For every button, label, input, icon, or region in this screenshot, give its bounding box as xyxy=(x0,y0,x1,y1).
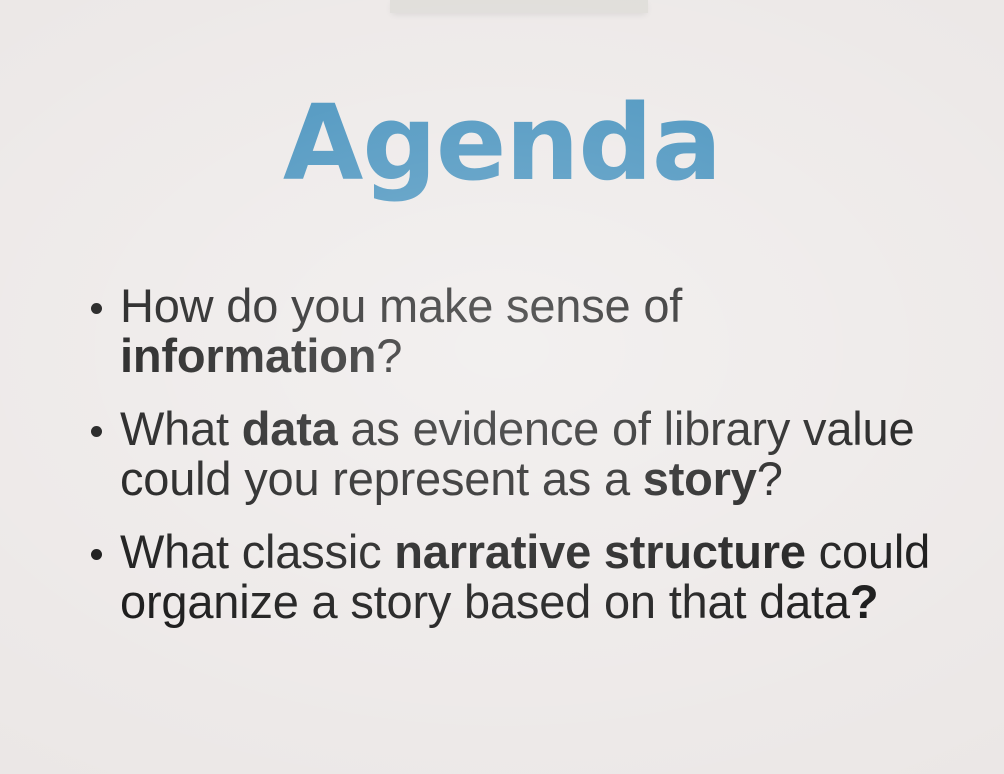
bullet-point-icon xyxy=(91,426,102,437)
run-text: What classic xyxy=(120,525,394,578)
run-text-bold: data xyxy=(242,402,338,455)
run-text-bold: information xyxy=(120,329,376,382)
bullet-point-icon xyxy=(91,303,102,314)
list-item: What data as evidence of library value c… xyxy=(84,404,944,504)
list-item: How do you make sense of information? xyxy=(84,281,944,381)
run-text-question-mark: ? xyxy=(850,575,879,628)
run-text-bold: narrative structure xyxy=(394,525,806,578)
agenda-bullet-list: How do you make sense of information? Wh… xyxy=(84,281,944,627)
run-text-bold: story xyxy=(643,452,757,505)
bullet-text-information: How do you make sense of information? xyxy=(120,281,944,381)
cropped-top-element xyxy=(390,0,648,13)
run-text: ? xyxy=(757,452,783,505)
run-text: How do you make sense of xyxy=(120,279,682,332)
bullet-text-narrative-structure: What classic narrative structure could o… xyxy=(120,527,944,627)
presentation-slide: Agenda How do you make sense of informat… xyxy=(0,0,1004,774)
bullet-text-data-story: What data as evidence of library value c… xyxy=(120,404,944,504)
run-text: What xyxy=(120,402,242,455)
page-title: Agenda xyxy=(0,88,1004,198)
bullet-point-icon xyxy=(91,549,102,560)
run-text: ? xyxy=(376,329,402,382)
list-item: What classic narrative structure could o… xyxy=(84,527,944,627)
